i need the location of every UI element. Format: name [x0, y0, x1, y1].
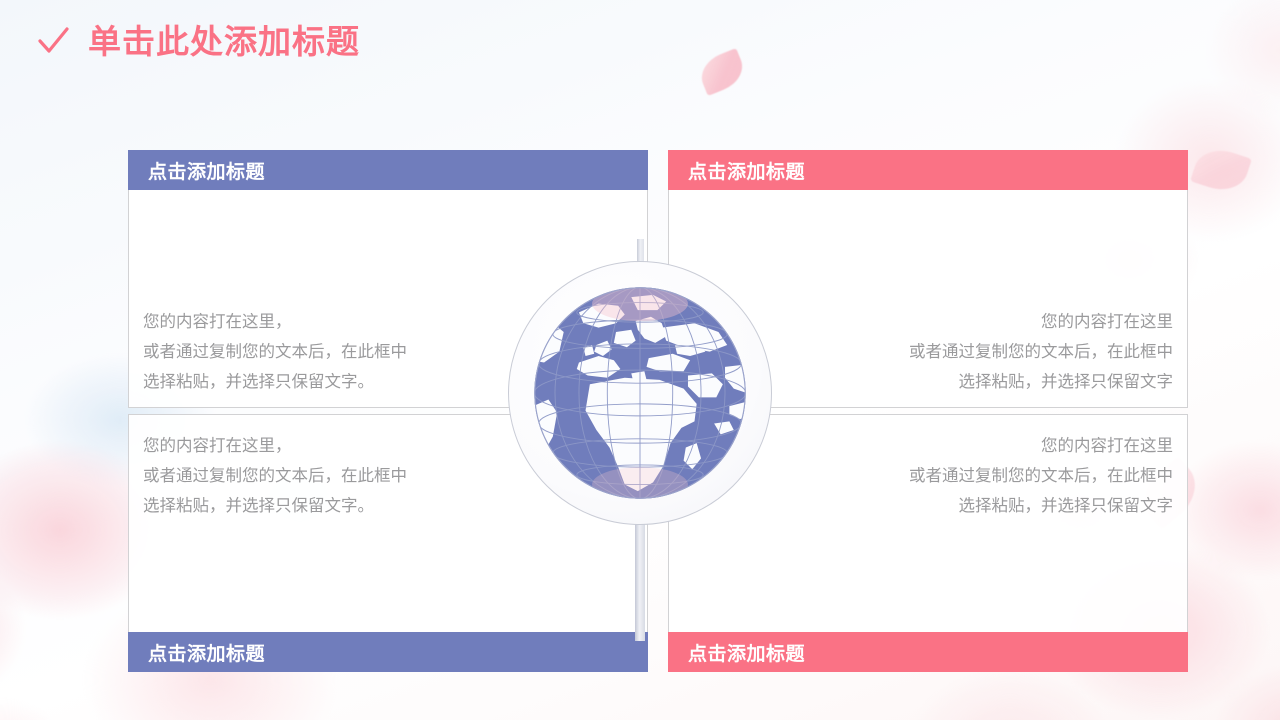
panel-bottom-right-body-text: 您的内容打在这里 或者通过复制您的文本后，在此框中 选择粘贴，并选择只保留文字 [753, 431, 1173, 521]
panel-top-left-header-label: 点击添加标题 [128, 157, 265, 184]
check-icon [36, 24, 70, 58]
panel-top-right-header-bar[interactable]: 点击添加标题 [668, 150, 1188, 190]
petal-top-center-icon [695, 48, 749, 96]
globe-icon [531, 284, 749, 502]
page-title: 单击此处添加标题 [88, 25, 360, 58]
panel-top-right-header-label: 点击添加标题 [668, 157, 805, 184]
slide-title-row: 单击此处添加标题 [36, 24, 360, 58]
panel-bottom-left-header-label: 点击添加标题 [128, 639, 265, 666]
slide-canvas: 单击此处添加标题 点击添加标题 您的内容打在这里， 或者通过复制您的文本后，在此… [0, 0, 1280, 720]
panel-bottom-left-body-text: 您的内容打在这里， 或者通过复制您的文本后，在此框中 选择粘贴，并选择只保留文字… [143, 431, 563, 521]
petal-top-right-icon [1190, 143, 1252, 197]
panel-top-right-body-text: 您的内容打在这里 或者通过复制您的文本后，在此框中 选择粘贴，并选择只保留文字 [753, 307, 1173, 397]
panel-top-left-body-text: 您的内容打在这里， 或者通过复制您的文本后，在此框中 选择粘贴，并选择只保留文字… [143, 307, 563, 397]
panel-top-left-header-bar[interactable]: 点击添加标题 [128, 150, 648, 190]
center-globe-graphic [508, 243, 772, 663]
